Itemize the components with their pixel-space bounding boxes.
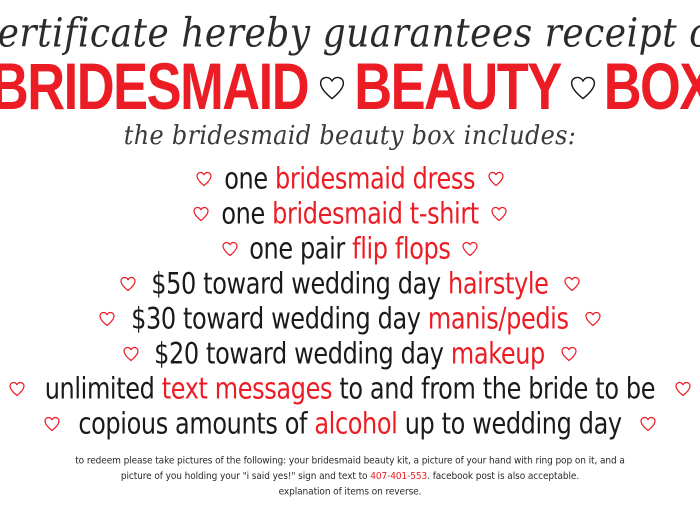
fineprint-line-3: explanation of items on reverse. — [26, 486, 674, 501]
heart-outline-red-icon — [491, 206, 507, 222]
list-item-text: $50 toward wedding day hairstyle — [151, 269, 548, 299]
heart-outline-red-icon — [564, 276, 580, 292]
heart-outline-red-icon — [99, 311, 115, 327]
list-item: copious amounts of alcohol up to wedding… — [44, 406, 656, 441]
heart-outline-red-icon — [193, 206, 209, 222]
list-item: $30 toward wedding day manis/pedis — [99, 301, 601, 336]
list-item-text: one bridesmaid dress — [225, 164, 476, 194]
list-item: one pair flip flops — [222, 231, 478, 266]
fineprint-line-2: picture of you holding your "i said yes!… — [26, 471, 674, 486]
title-word-box: BOX — [603, 56, 700, 119]
inclusions-list: one bridesmaid dress one bridesmaid t-sh… — [0, 161, 700, 441]
heart-outline-red-icon — [585, 311, 601, 327]
list-item-text: one pair flip flops — [249, 234, 450, 264]
list-item-text: one bridesmaid t-shirt — [221, 199, 478, 229]
list-item: one bridesmaid dress — [196, 161, 503, 196]
heart-outline-red-icon — [120, 276, 136, 292]
redemption-instructions: to redeem please take pictures of the fo… — [0, 455, 700, 501]
list-item-text: copious amounts of alcohol up to wedding… — [78, 409, 621, 439]
certificate-script-headline: this certificate hereby guarantees recei… — [0, 14, 700, 54]
title-word-bridesmaid: BRIDESMAID — [0, 56, 308, 119]
certificate-subtitle: the bridesmaid beauty box includes: — [124, 122, 576, 148]
heart-outline-red-icon — [462, 241, 478, 257]
heart-outline-red-icon — [561, 346, 577, 362]
list-item-text: unlimited text messages to and from the … — [45, 374, 655, 404]
list-item: $20 toward wedding day makeup — [123, 336, 576, 371]
list-item-text: $20 toward wedding day makeup — [155, 339, 546, 369]
heart-outline-red-icon — [640, 416, 656, 432]
list-item: $50 toward wedding day hairstyle — [120, 266, 580, 301]
heart-outline-black-icon — [319, 75, 345, 101]
certificate-page: this certificate hereby guarantees recei… — [0, 0, 700, 525]
heart-outline-red-icon — [675, 381, 691, 397]
contact-phone-number: 407-401-553 — [370, 472, 427, 483]
heart-outline-red-icon — [123, 346, 139, 362]
list-item-text: $30 toward wedding day manis/pedis — [131, 304, 568, 334]
heart-outline-red-icon — [44, 416, 60, 432]
certificate-title: BRIDESMAID BEAUTY BOX — [0, 62, 700, 113]
list-item: unlimited text messages to and from the … — [9, 371, 691, 406]
heart-outline-red-icon — [488, 171, 504, 187]
heart-outline-red-icon — [9, 381, 25, 397]
title-word-beauty: BEAUTY — [354, 56, 561, 119]
fineprint-line-1: to redeem please take pictures of the fo… — [26, 455, 674, 470]
heart-outline-black-icon — [570, 75, 596, 101]
heart-outline-red-icon — [222, 241, 238, 257]
list-item: one bridesmaid t-shirt — [193, 196, 507, 231]
heart-outline-red-icon — [196, 171, 212, 187]
